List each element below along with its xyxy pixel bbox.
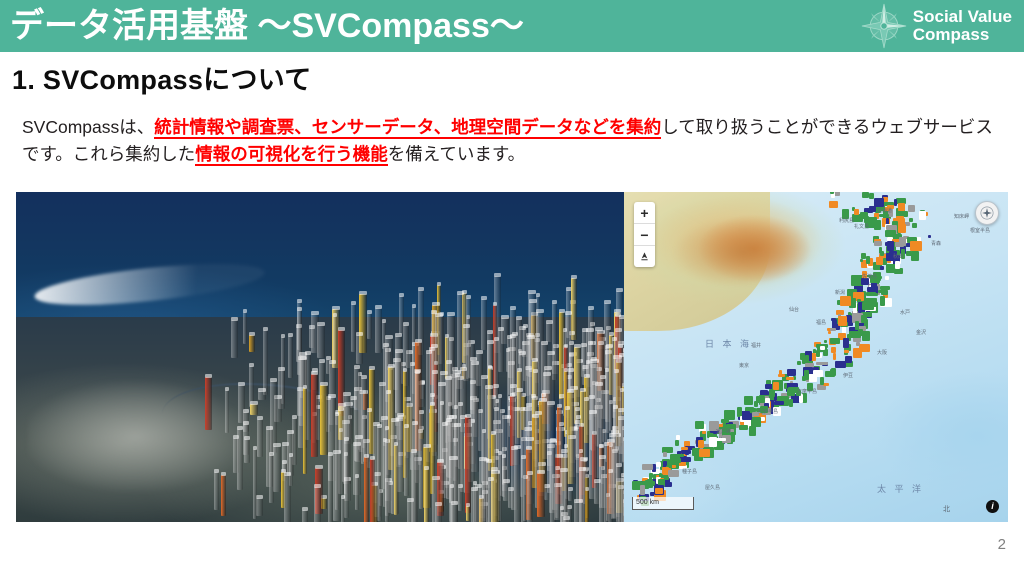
municipality-region [834, 319, 837, 326]
data-bar [527, 474, 534, 522]
municipality-region [664, 482, 672, 488]
data-bar [458, 487, 463, 511]
data-bar [574, 502, 583, 522]
municipality-region [739, 425, 747, 430]
municipality-region [778, 374, 785, 377]
municipality-region [789, 399, 792, 407]
data-bar [284, 475, 292, 522]
data-bar [451, 504, 458, 522]
data-bar [370, 459, 375, 522]
municipality-region [835, 361, 846, 368]
municipality-region [887, 241, 894, 251]
data-bar [491, 470, 499, 522]
municipality-region [673, 454, 684, 458]
municipality-region [668, 470, 679, 477]
data-bar [237, 429, 243, 490]
data-bar [314, 487, 321, 522]
body-paragraph: SVCompassは、統計情報や調査票、センサーデータ、地理空間データなどを集約… [22, 114, 1007, 168]
municipality-region [899, 237, 906, 246]
data-bar [465, 417, 472, 513]
municipality-region [838, 316, 847, 326]
map-zoom-controls[interactable]: + − [634, 202, 655, 267]
north-arrow-icon[interactable] [634, 246, 655, 267]
municipality-region [862, 192, 869, 198]
data-bar [288, 336, 293, 378]
data-bar [250, 404, 258, 415]
data-bar [435, 505, 442, 522]
municipality-region [856, 342, 860, 345]
brand-logo-text: Social Value Compass [913, 8, 1012, 44]
data-bar [568, 490, 573, 501]
municipality-region [820, 346, 826, 351]
municipality-region [861, 278, 870, 285]
municipality-region [885, 230, 897, 237]
data-bar [364, 457, 369, 522]
municipality-region [802, 376, 806, 382]
municipality-region [784, 383, 787, 389]
data-bar [257, 419, 263, 456]
municipality-region [912, 223, 917, 228]
municipality-region [855, 321, 859, 330]
data-bar [205, 377, 213, 430]
municipality-region [898, 203, 905, 210]
municipality-region [911, 251, 919, 261]
data-bar [269, 455, 274, 503]
municipality-region [842, 209, 848, 220]
municipality-region [744, 396, 753, 406]
municipality-region [681, 447, 688, 450]
municipality-region [676, 435, 680, 440]
data-bar [411, 452, 418, 522]
municipality-region [702, 431, 706, 434]
map-compass-button[interactable] [975, 201, 999, 225]
municipality-region [760, 406, 768, 413]
data-bar [424, 469, 429, 522]
section-heading: 1. SVCompassについて [12, 58, 312, 97]
municipality-region [876, 257, 883, 265]
municipality-region [833, 353, 836, 360]
municipality-region [881, 290, 888, 295]
data-bar [604, 445, 609, 522]
municipality-region [820, 377, 824, 385]
data-bar [221, 475, 227, 516]
municipality-region [895, 261, 900, 269]
data-bar [249, 335, 255, 352]
municipality-region [816, 350, 821, 357]
municipality-region [773, 382, 780, 390]
municipality-region [805, 355, 809, 363]
municipality-region [640, 485, 645, 495]
municipality-region [642, 464, 653, 470]
municipality-region [861, 315, 867, 324]
japan-choropleth-map[interactable]: 北海道利尻島礼文島知床岬根室半島青森秋田佐渡島新潟仙台福島水戸金沢福井東京大阪伊… [624, 192, 1008, 522]
municipality-region [909, 218, 913, 222]
municipality-region [843, 338, 849, 348]
municipality-region [873, 272, 881, 281]
municipality-region [751, 417, 761, 427]
data-bar [317, 325, 325, 358]
data-bar [320, 385, 327, 454]
zoom-in-icon[interactable]: + [634, 202, 655, 224]
data-bar [341, 498, 345, 522]
municipality-region [656, 462, 661, 467]
terrain-relief-shading [647, 205, 847, 304]
municipality-region [862, 302, 874, 310]
data-bar [214, 472, 219, 510]
data-bar [550, 441, 556, 522]
municipality-region [880, 266, 884, 270]
municipality-region [754, 401, 758, 408]
municipality-region [787, 388, 795, 397]
data-bar [419, 413, 423, 510]
municipality-region [698, 440, 704, 449]
municipality-region [908, 205, 916, 212]
body-text-prefix: SVCompassは、 [22, 117, 154, 137]
municipality-region [883, 197, 887, 202]
data-bar [537, 473, 545, 517]
data-bar [377, 427, 382, 521]
3d-extruded-bar-map [16, 192, 624, 522]
data-bar [225, 390, 230, 433]
municipality-region [699, 449, 710, 458]
municipality-region [831, 347, 836, 352]
municipality-region [880, 251, 884, 256]
data-bar [311, 374, 318, 457]
header-bar: データ活用基盤 ～SVCompass～ Social Value Compass [0, 0, 1024, 52]
municipality-region [797, 361, 801, 365]
data-bar [355, 477, 360, 510]
data-bar [404, 427, 408, 496]
municipality-region [749, 426, 756, 436]
municipality-region [825, 371, 835, 377]
municipality-region [854, 209, 859, 215]
municipality-region [901, 249, 906, 259]
data-bar [471, 490, 478, 522]
municipality-region [773, 407, 781, 416]
data-bar [253, 449, 258, 519]
data-bar [385, 429, 390, 522]
municipality-region [742, 413, 753, 421]
municipality-region [867, 293, 878, 297]
data-bar [244, 439, 250, 463]
municipality-region [840, 296, 851, 306]
body-highlight-2: 情報の可視化を行う機能 [195, 144, 388, 166]
data-bar [231, 320, 239, 359]
brand-logo: Social Value Compass [861, 0, 1024, 52]
municipality-region [750, 408, 756, 412]
data-bar [560, 471, 568, 522]
data-bar [303, 388, 308, 475]
municipality-region [906, 251, 912, 256]
municipality-region [849, 331, 861, 338]
data-bar [356, 335, 363, 364]
municipality-region [928, 235, 932, 238]
municipality-region [685, 451, 690, 455]
municipality-region [829, 201, 839, 209]
map-info-button[interactable]: i [986, 500, 999, 513]
municipality-region [862, 331, 870, 341]
data-bar [243, 312, 247, 344]
municipality-region [859, 344, 870, 352]
data-bar [263, 330, 268, 395]
municipality-region [830, 338, 840, 344]
data-bar [394, 445, 398, 515]
municipality-region [709, 421, 719, 431]
municipality-region [887, 205, 894, 209]
media-row: 北海道利尻島礼文島知床岬根室半島青森秋田佐渡島新潟仙台福島水戸金沢福井東京大阪伊… [16, 192, 1008, 522]
municipality-region [786, 377, 794, 381]
municipality-region [919, 211, 927, 220]
municipality-region [816, 362, 828, 365]
data-bar [481, 299, 486, 350]
municipality-region [879, 214, 889, 218]
municipality-region [719, 429, 722, 438]
municipality-region [898, 224, 906, 233]
municipality-region [910, 241, 922, 251]
data-bar [375, 308, 382, 353]
municipality-region [752, 412, 760, 416]
map-scale-bar: 500 km [632, 497, 694, 510]
data-bar [302, 510, 308, 522]
data-bar [563, 519, 570, 522]
data-bar [351, 304, 356, 353]
data-bar [514, 448, 521, 522]
data-bar [367, 313, 372, 340]
zoom-out-icon[interactable]: − [634, 224, 655, 246]
municipality-region [885, 276, 890, 281]
brand-line-2: Compass [913, 26, 1012, 44]
municipality-region [695, 421, 704, 429]
municipality-region [774, 401, 784, 405]
municipality-region [874, 241, 882, 246]
data-bar [521, 458, 526, 522]
municipality-region [796, 390, 801, 395]
municipality-region [715, 438, 726, 442]
extruded-bar-field [16, 192, 624, 522]
municipality-region [874, 198, 884, 207]
body-highlight-1: 統計情報や調査票、センサーデータ、地理空間データなどを集約 [154, 117, 661, 139]
data-bar [328, 455, 333, 522]
municipality-region [787, 369, 796, 376]
compass-rose-icon [861, 3, 907, 49]
municipality-region [866, 256, 870, 265]
municipality-region [675, 440, 679, 446]
municipality-region [894, 199, 897, 206]
municipality-region [807, 383, 813, 391]
body-text-suffix: を備えています。 [388, 144, 525, 164]
page-title: データ活用基盤 ～SVCompass～ [0, 0, 524, 52]
municipality-region [663, 452, 667, 457]
municipality-region [655, 488, 663, 494]
municipality-region [830, 328, 836, 331]
data-bar [258, 391, 266, 400]
page-number: 2 [998, 536, 1006, 553]
data-bar [466, 506, 470, 522]
municipality-region [860, 212, 868, 219]
brand-line-1: Social Value [913, 8, 1012, 26]
compass-needle-icon [980, 206, 994, 220]
municipality-region [880, 296, 885, 306]
north-arrow-glyph [639, 251, 650, 262]
